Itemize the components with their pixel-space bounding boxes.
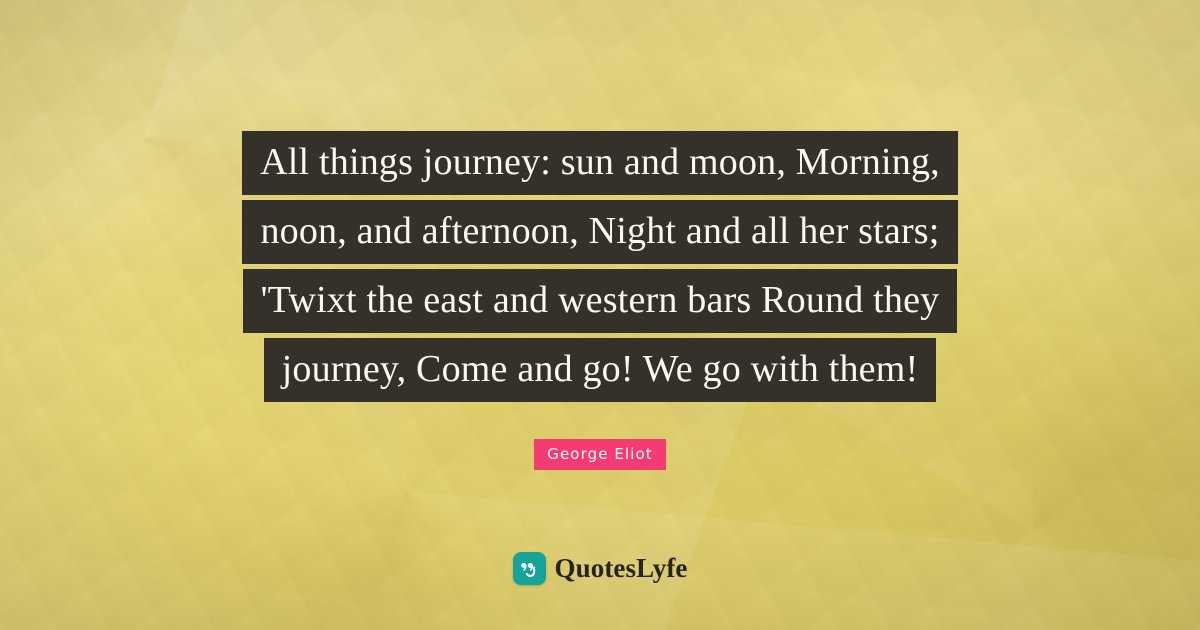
quote-text-block: All things journey: sun and moon, Mornin…	[0, 131, 1200, 407]
quote-smiley-icon	[513, 552, 546, 585]
quote-poster: All things journey: sun and moon, Mornin…	[0, 0, 1200, 630]
quote-line: All things journey: sun and moon, Mornin…	[242, 131, 958, 195]
attribution-container: George Eliot	[0, 439, 1200, 470]
quote-line: 'Twixt the east and western bars Round t…	[243, 269, 958, 333]
quote-author-badge: George Eliot	[534, 439, 666, 470]
quote-line: journey, Come and go! We go with them!	[264, 338, 937, 402]
poster-content: All things journey: sun and moon, Mornin…	[0, 0, 1200, 630]
brand-name: QuotesLyfe	[555, 555, 688, 582]
quote-line: noon, and afternoon, Night and all her s…	[242, 200, 957, 264]
brand-footer: QuotesLyfe	[0, 552, 1200, 585]
